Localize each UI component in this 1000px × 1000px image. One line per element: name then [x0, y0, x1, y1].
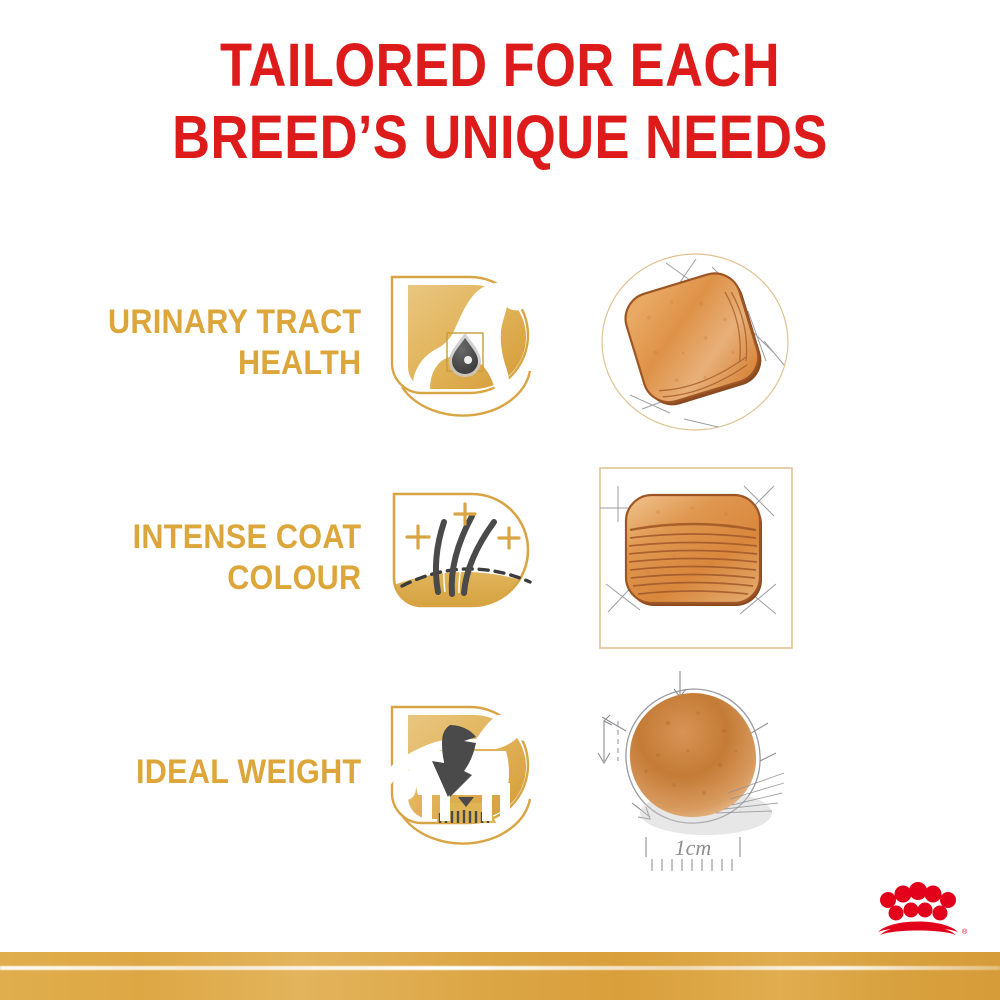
feature-label-line-1: IDEAL WEIGHT: [37, 752, 362, 792]
urinary-tract-health-icon: [378, 255, 553, 430]
feature-label-line-1: URINARY TRACT: [37, 302, 362, 342]
kibble-rounded-square-striped: [588, 460, 803, 655]
bottom-gold-band: [0, 952, 1000, 1000]
feature-list: URINARY TRACT HEALTH: [0, 235, 1000, 880]
registered-trademark-mark: ®: [962, 928, 968, 936]
feature-row-urinary-tract-health: URINARY TRACT HEALTH: [0, 235, 1000, 450]
kibble-cell-coat: [565, 460, 825, 655]
royal-canin-crown-logo: ®: [868, 882, 968, 942]
kibble-scale-label: 1cm: [674, 835, 711, 860]
icon-cell-coat: [365, 470, 565, 645]
kibble-cell-urinary: [565, 245, 825, 440]
kibble-diamond-square: [588, 245, 803, 440]
royal-canin-benefits-panel: { "headline": { "line1": "TAILORED FOR E…: [0, 0, 1000, 1000]
feature-label-intense-coat-colour: INTENSE COAT COLOUR: [37, 517, 366, 597]
kibble-cell-weight: 1cm: [565, 665, 825, 880]
feature-label-line-2: HEALTH: [37, 343, 362, 383]
feature-label-line-1: INTENSE COAT: [37, 517, 362, 557]
icon-cell-urinary: [365, 255, 565, 430]
intense-coat-colour-icon: [378, 470, 553, 645]
page-title-line-2: BREED’S UNIQUE NEEDS: [70, 102, 930, 174]
feature-label-line-2: COLOUR: [37, 558, 362, 598]
feature-label-ideal-weight: IDEAL WEIGHT: [37, 752, 366, 792]
feature-row-ideal-weight: IDEAL WEIGHT: [0, 665, 1000, 880]
icon-cell-weight: [365, 685, 565, 860]
feature-label-urinary-tract-health: URINARY TRACT HEALTH: [37, 302, 366, 382]
kibble-round-pillow: 1cm: [588, 665, 803, 880]
page-title-line-1: TAILORED FOR EACH: [70, 30, 930, 102]
ideal-weight-icon: [378, 685, 553, 860]
feature-row-intense-coat-colour: INTENSE COAT COLOUR: [0, 450, 1000, 665]
page-title: TAILORED FOR EACH BREED’S UNIQUE NEEDS: [70, 30, 930, 174]
